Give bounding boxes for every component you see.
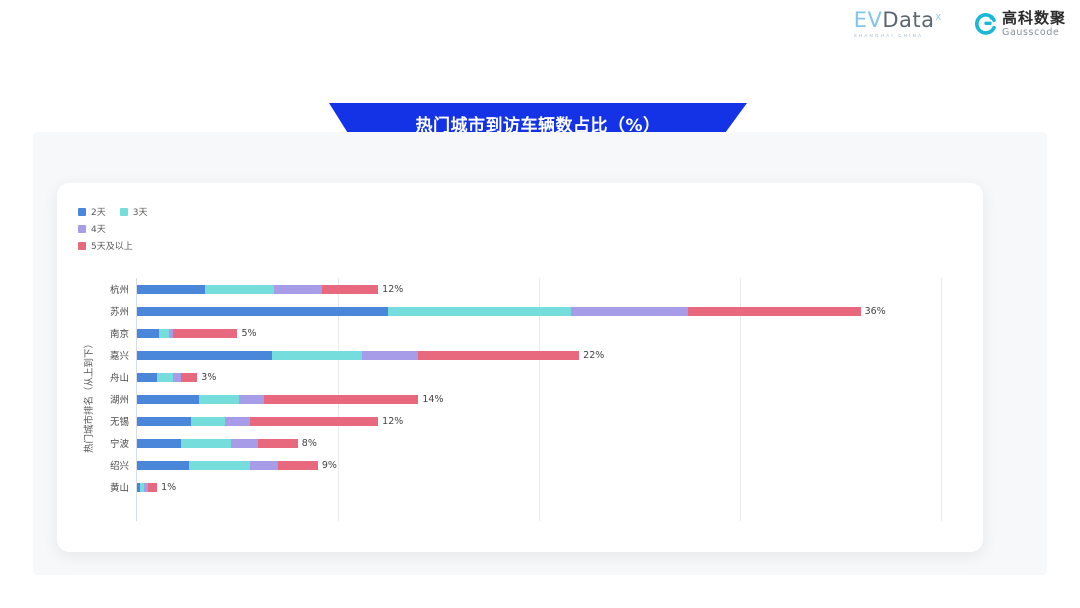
header-logos: EVData x SHANGHAI CHINA 高科数聚 Gausscode	[854, 10, 1066, 38]
bar-total-label: 3%	[201, 372, 216, 383]
category-label: 苏州	[57, 304, 129, 318]
bar-segment-4天[interactable]	[239, 395, 263, 404]
chart-row: 宁波8%	[57, 432, 983, 454]
legend-label: 3天	[133, 205, 148, 218]
bar-total-label: 9%	[322, 460, 337, 471]
bar-segment-5天及以上[interactable]	[250, 417, 379, 426]
bar-segment-2天[interactable]	[137, 395, 199, 404]
bar-total-label: 36%	[865, 306, 886, 317]
evdata-logo-main: Data	[882, 8, 934, 32]
chart-legend: 2天3天4天5天及以上	[78, 205, 338, 252]
bar-segment-3天[interactable]	[205, 285, 273, 294]
chart-rows: 杭州12%苏州36%南京5%嘉兴22%舟山3%湖州14%无锡12%宁波8%绍兴9…	[57, 278, 983, 498]
category-label: 湖州	[57, 392, 129, 406]
chart-plot-area: 热门城市排名（从上到下） 杭州12%苏州36%南京5%嘉兴22%舟山3%湖州14…	[57, 270, 983, 530]
stacked-bar[interactable]: 14%	[137, 395, 443, 404]
chart-row: 舟山3%	[57, 366, 983, 388]
bar-segment-5天及以上[interactable]	[418, 351, 579, 360]
bar-segment-2天[interactable]	[137, 417, 191, 426]
stacked-bar[interactable]: 12%	[137, 417, 403, 426]
legend-label: 5天及以上	[91, 239, 133, 252]
chart-row: 嘉兴22%	[57, 344, 983, 366]
category-label: 嘉兴	[57, 348, 129, 362]
bar-segment-5天及以上[interactable]	[258, 439, 298, 448]
bar-segment-4天[interactable]	[231, 439, 257, 448]
evdata-x-icon: x	[935, 11, 941, 23]
gausscode-logo-cn: 高科数聚	[1002, 11, 1066, 26]
chart-row: 苏州36%	[57, 300, 983, 322]
legend-swatch-icon	[120, 208, 128, 216]
category-label: 南京	[57, 326, 129, 340]
evdata-logo-prefix: EV	[854, 8, 883, 32]
bar-segment-3天[interactable]	[157, 373, 173, 382]
chart-row: 黄山1%	[57, 476, 983, 498]
bar-total-label: 22%	[583, 350, 604, 361]
bar-segment-4天[interactable]	[250, 461, 278, 470]
bar-segment-2天[interactable]	[137, 461, 189, 470]
bar-segment-3天[interactable]	[191, 417, 225, 426]
stacked-bar[interactable]: 8%	[137, 439, 317, 448]
logo-divider	[957, 11, 958, 37]
legend-swatch-icon	[78, 225, 86, 233]
legend-item[interactable]: 2天	[78, 205, 106, 218]
bar-segment-5天及以上[interactable]	[181, 373, 197, 382]
category-label: 无锡	[57, 414, 129, 428]
bar-total-label: 14%	[422, 394, 443, 405]
bar-total-label: 12%	[382, 416, 403, 427]
bar-segment-3天[interactable]	[272, 351, 362, 360]
bar-segment-3天[interactable]	[189, 461, 249, 470]
chart-row: 无锡12%	[57, 410, 983, 432]
category-label: 宁波	[57, 436, 129, 450]
bar-segment-2天[interactable]	[137, 307, 388, 316]
gausscode-mark-icon	[974, 13, 996, 35]
stacked-bar[interactable]: 5%	[137, 329, 257, 338]
stacked-bar[interactable]: 22%	[137, 351, 604, 360]
bar-segment-2天[interactable]	[137, 439, 181, 448]
legend-swatch-icon	[78, 242, 86, 250]
slide-root: EVData x SHANGHAI CHINA 高科数聚 Gausscode	[0, 0, 1080, 608]
bar-total-label: 8%	[302, 438, 317, 449]
legend-item[interactable]: 4天	[78, 222, 106, 235]
evdata-logo-subtitle: SHANGHAI CHINA	[854, 33, 924, 38]
gausscode-logo: 高科数聚 Gausscode	[974, 11, 1066, 38]
category-label: 绍兴	[57, 458, 129, 472]
bar-segment-2天[interactable]	[137, 373, 157, 382]
gausscode-logo-en: Gausscode	[1002, 28, 1066, 38]
stacked-bar[interactable]: 12%	[137, 285, 403, 294]
stacked-bar[interactable]: 1%	[137, 483, 176, 492]
legend-item[interactable]: 3天	[120, 205, 148, 218]
bar-segment-2天[interactable]	[137, 285, 205, 294]
legend-label: 4天	[91, 222, 106, 235]
bar-segment-2天[interactable]	[137, 329, 159, 338]
stacked-bar[interactable]: 9%	[137, 461, 337, 470]
bar-segment-4天[interactable]	[225, 417, 249, 426]
evdata-logo: EVData x SHANGHAI CHINA	[854, 10, 941, 38]
bar-segment-5天及以上[interactable]	[688, 307, 861, 316]
legend-label: 2天	[91, 205, 106, 218]
stacked-bar[interactable]: 36%	[137, 307, 886, 316]
chart-row: 南京5%	[57, 322, 983, 344]
bar-segment-3天[interactable]	[181, 439, 231, 448]
bar-segment-5天及以上[interactable]	[322, 285, 378, 294]
bar-segment-5天及以上[interactable]	[148, 483, 157, 492]
bar-segment-3天[interactable]	[388, 307, 571, 316]
bar-total-label: 12%	[382, 284, 403, 295]
bar-segment-5天及以上[interactable]	[278, 461, 318, 470]
bar-segment-4天[interactable]	[571, 307, 688, 316]
bar-segment-3天[interactable]	[199, 395, 239, 404]
legend-item[interactable]: 5天及以上	[78, 239, 133, 252]
bar-segment-2天[interactable]	[137, 351, 272, 360]
chart-row: 湖州14%	[57, 388, 983, 410]
category-label: 杭州	[57, 282, 129, 296]
bar-segment-4天[interactable]	[274, 285, 322, 294]
chart-row: 杭州12%	[57, 278, 983, 300]
category-label: 舟山	[57, 370, 129, 384]
bar-segment-4天[interactable]	[362, 351, 418, 360]
legend-swatch-icon	[78, 208, 86, 216]
stacked-bar[interactable]: 3%	[137, 373, 216, 382]
bar-segment-4天[interactable]	[173, 373, 181, 382]
bar-total-label: 5%	[241, 328, 256, 339]
bar-total-label: 1%	[161, 482, 176, 493]
chart-row: 绍兴9%	[57, 454, 983, 476]
bar-segment-3天[interactable]	[159, 329, 169, 338]
category-label: 黄山	[57, 480, 129, 494]
bar-segment-5天及以上[interactable]	[173, 329, 237, 338]
bar-segment-5天及以上[interactable]	[264, 395, 419, 404]
